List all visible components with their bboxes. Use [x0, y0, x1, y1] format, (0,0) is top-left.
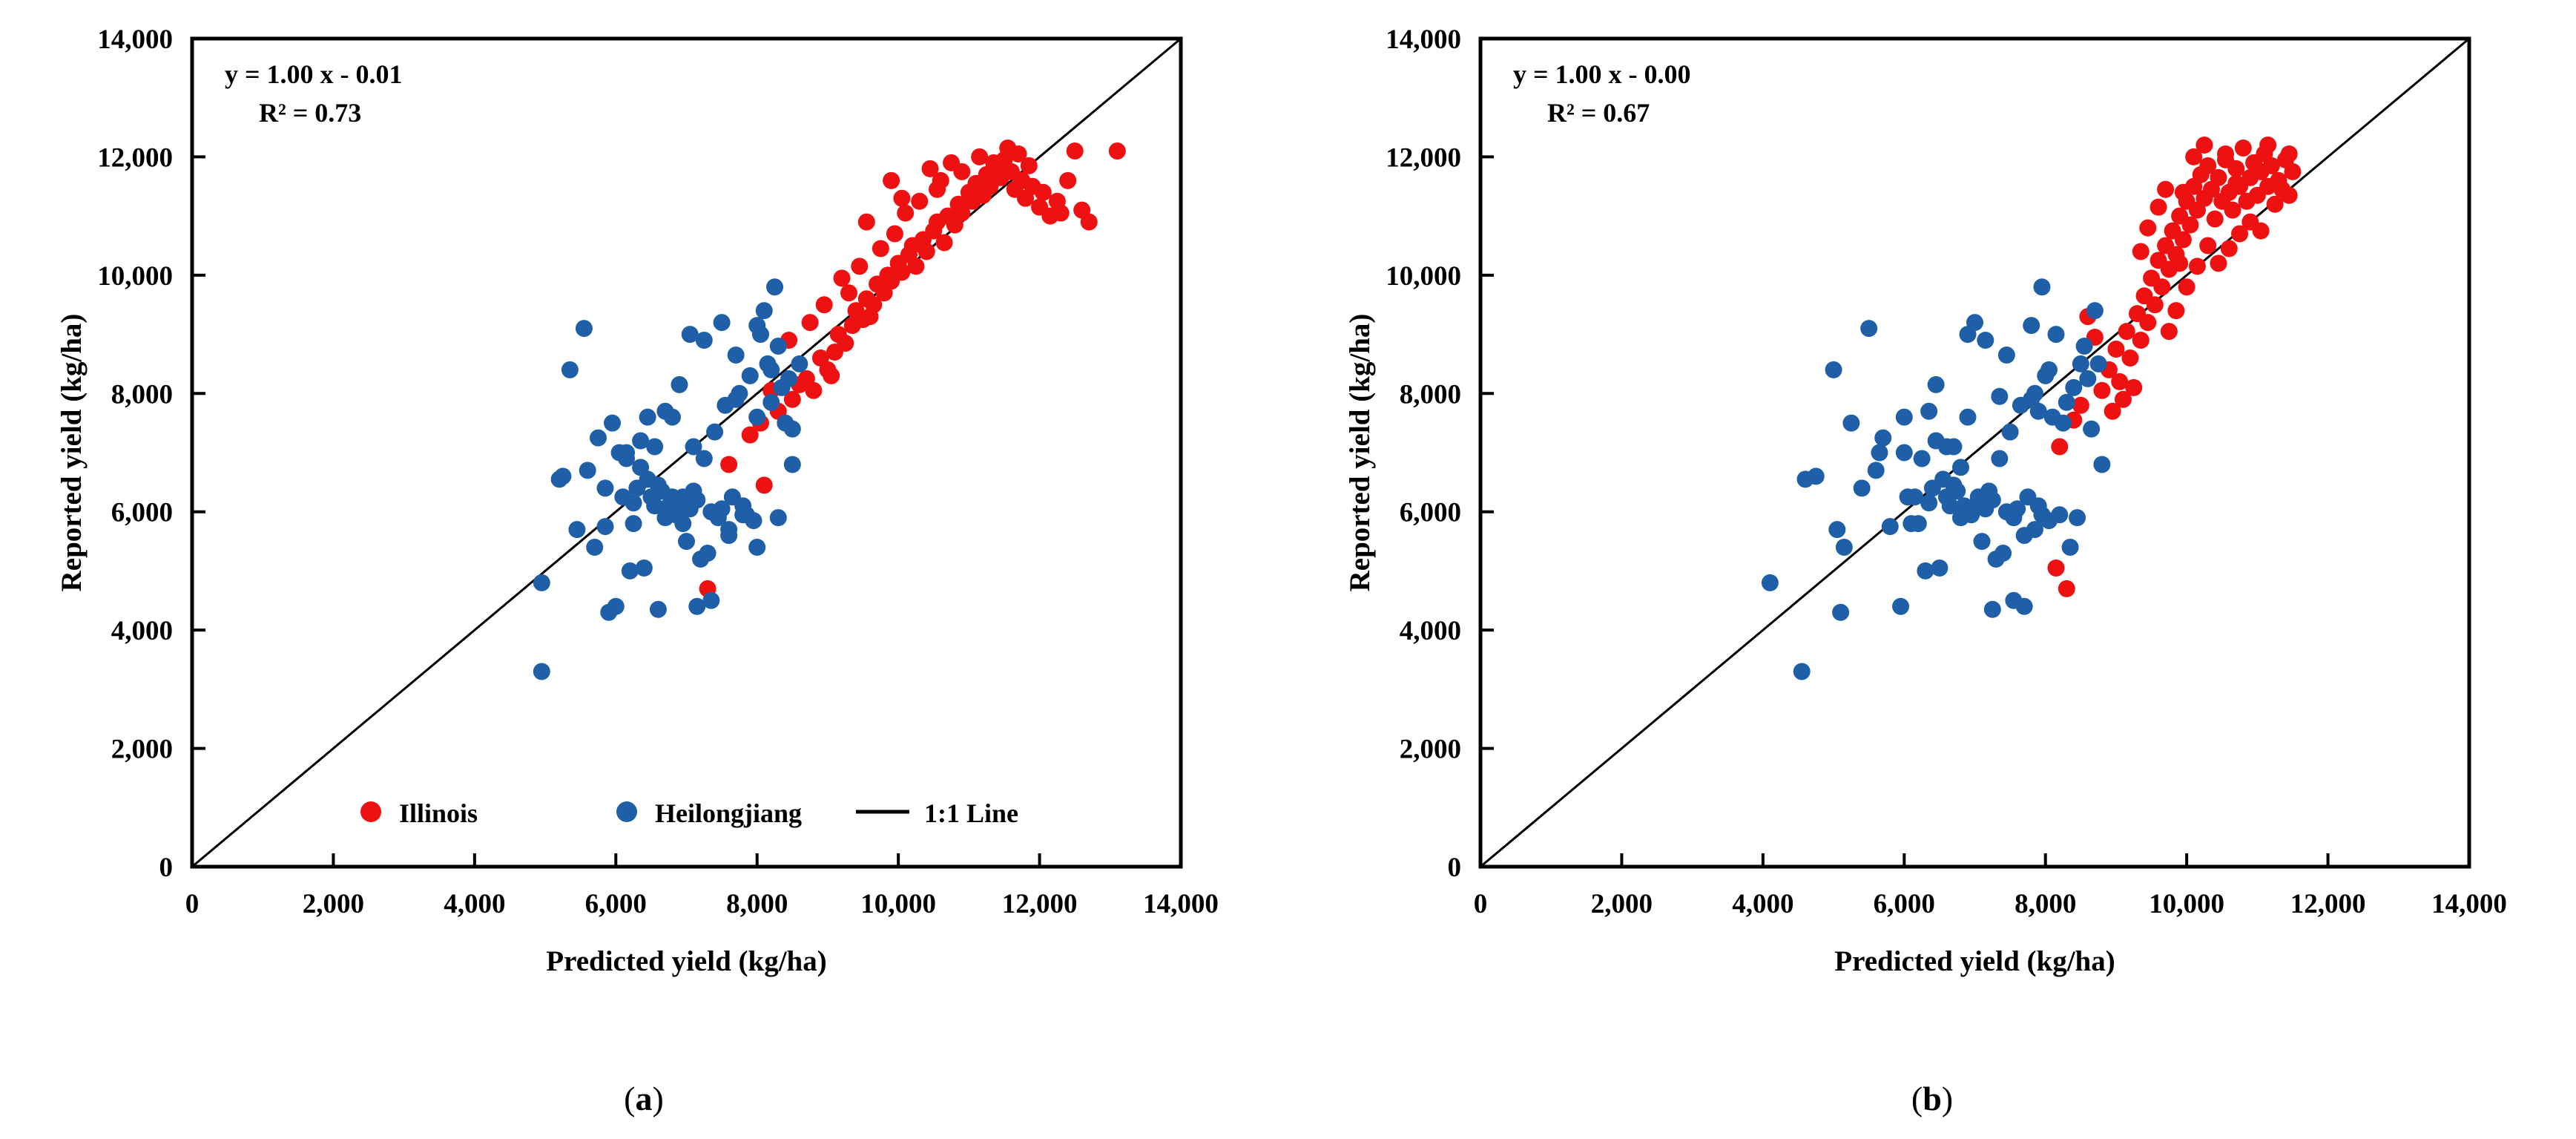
data-point — [2090, 355, 2107, 372]
data-point — [646, 439, 663, 456]
data-point — [2072, 355, 2089, 372]
data-point — [632, 459, 649, 476]
data-point — [618, 444, 635, 462]
data-point — [650, 601, 667, 618]
data-point — [2132, 332, 2150, 349]
data-point — [2139, 220, 2156, 237]
x-tick-label: 0 — [185, 889, 200, 919]
data-point — [1931, 559, 1948, 577]
data-point — [702, 592, 719, 609]
data-point — [2002, 424, 2019, 441]
caption-paren-close: ) — [653, 1080, 664, 1117]
y-axis-title: Reported yield (kg/ha) — [56, 314, 88, 592]
x-tick-label: 8,000 — [726, 889, 788, 919]
data-point — [2189, 257, 2206, 275]
x-tick-label: 14,000 — [2431, 889, 2507, 919]
data-point — [802, 314, 819, 331]
data-point — [2210, 255, 2227, 272]
data-point — [918, 243, 935, 260]
data-point — [1874, 430, 1891, 447]
caption-paren-open: ( — [624, 1080, 635, 1117]
data-point — [720, 521, 737, 538]
data-point — [833, 269, 850, 286]
data-point — [590, 430, 607, 447]
y-tick-label: 10,000 — [97, 261, 173, 292]
data-point — [2093, 456, 2110, 473]
data-point — [1994, 545, 2012, 562]
data-point — [656, 403, 673, 420]
x-tick-label: 8,000 — [2015, 889, 2076, 919]
data-point — [1836, 539, 1853, 556]
data-point — [2047, 559, 2064, 577]
data-point — [2178, 278, 2195, 295]
data-point — [2086, 302, 2104, 319]
data-point — [911, 193, 928, 210]
data-point — [1860, 320, 1877, 337]
caption-letter: a — [636, 1080, 653, 1117]
data-point — [762, 361, 780, 378]
data-point — [625, 494, 642, 511]
legend-marker-circle — [360, 801, 381, 822]
x-tick-label: 4,000 — [1732, 889, 1793, 919]
data-point — [770, 509, 787, 526]
data-point — [2253, 223, 2270, 240]
y-tick-label: 12,000 — [1386, 142, 1461, 173]
x-tick-label: 2,000 — [1591, 889, 1653, 919]
data-point — [1035, 184, 1052, 201]
data-point — [748, 409, 765, 426]
y-tick-label: 0 — [1448, 853, 1462, 883]
data-point — [1828, 521, 1845, 538]
data-point — [985, 154, 1002, 171]
data-point — [1938, 439, 1955, 456]
regression-equation: y = 1.00 x - 0.01 — [225, 59, 403, 89]
data-point — [1842, 415, 1859, 432]
data-point — [1991, 388, 2008, 405]
y-tick-label: 14,000 — [97, 24, 173, 55]
data-point — [2030, 403, 2047, 420]
data-point — [2167, 302, 2184, 319]
data-point — [784, 421, 801, 438]
x-tick-label: 6,000 — [585, 889, 647, 919]
data-point — [699, 545, 717, 562]
series-heilongjiang — [1762, 278, 2111, 680]
data-point — [742, 427, 759, 444]
data-point — [929, 181, 946, 198]
panel-b-caption: (b) — [1288, 1079, 2576, 1118]
data-point — [2121, 349, 2138, 367]
data-point — [1959, 409, 1976, 426]
data-point — [886, 226, 903, 243]
legend-label: Illinois — [399, 798, 478, 828]
data-point — [766, 278, 783, 295]
x-tick-label: 12,000 — [1002, 889, 1078, 919]
data-point — [586, 539, 603, 556]
y-tick-label: 2,000 — [1400, 735, 1461, 765]
data-point — [2235, 139, 2252, 157]
data-point — [907, 257, 924, 275]
data-point — [2227, 160, 2244, 177]
data-point — [2224, 202, 2241, 219]
data-point — [1059, 172, 1076, 189]
caption-paren-close: ) — [1942, 1080, 1953, 1117]
data-point — [636, 559, 653, 577]
data-point — [748, 317, 765, 334]
x-tick-label: 10,000 — [860, 889, 936, 919]
data-point — [1903, 515, 1920, 532]
data-point — [728, 347, 745, 364]
data-point — [756, 302, 773, 319]
data-point — [2199, 237, 2216, 255]
data-point — [2153, 278, 2170, 295]
data-point — [1906, 488, 1923, 505]
data-point — [2259, 137, 2276, 154]
data-point — [953, 163, 970, 180]
data-point — [671, 376, 688, 393]
data-point — [674, 515, 691, 532]
data-point — [784, 456, 801, 473]
data-point — [1984, 491, 2001, 508]
caption-paren-open: ( — [1911, 1080, 1923, 1117]
x-tick-label: 6,000 — [1874, 889, 1935, 919]
data-point — [2107, 341, 2124, 358]
data-point — [1762, 574, 1779, 591]
data-point — [1966, 314, 1983, 331]
data-point — [1896, 409, 1913, 426]
data-point — [2281, 145, 2298, 163]
data-point — [579, 462, 596, 479]
x-axis-title: Predicted yield (kg/ha) — [546, 945, 826, 977]
data-point — [1984, 601, 2001, 618]
data-point — [2065, 379, 2082, 396]
data-point — [2139, 314, 2156, 331]
data-point — [1854, 479, 1871, 496]
data-point — [2157, 181, 2174, 198]
data-point — [770, 338, 787, 355]
data-point — [1928, 376, 1945, 393]
data-point — [1067, 142, 1084, 160]
data-point — [1832, 604, 1849, 621]
data-point — [639, 409, 656, 426]
data-point — [597, 518, 614, 535]
legend-marker-circle — [616, 801, 637, 822]
data-point — [805, 382, 822, 399]
data-point — [816, 296, 833, 313]
data-point — [851, 257, 868, 275]
legend-entry-heilongjiang: Heilongjiang — [616, 798, 802, 828]
y-tick-label: 14,000 — [1386, 24, 1461, 55]
data-point — [2175, 184, 2192, 201]
data-point — [1896, 444, 1913, 462]
data-point — [2058, 394, 2075, 411]
data-point — [2118, 323, 2135, 340]
data-point — [2217, 145, 2234, 163]
data-point — [2150, 199, 2167, 216]
data-point — [2181, 217, 2198, 234]
data-point — [2207, 211, 2224, 228]
data-point — [756, 476, 773, 493]
y-tick-label: 6,000 — [1400, 498, 1461, 528]
data-point — [1793, 663, 1811, 680]
panel-b: 02,0004,0006,0008,00010,00012,00014,0000… — [1288, 0, 2576, 1139]
data-point — [762, 394, 780, 411]
data-point — [664, 488, 681, 505]
x-tick-label: 4,000 — [444, 889, 505, 919]
data-point — [678, 533, 695, 550]
x-tick-label: 2,000 — [303, 889, 364, 919]
x-tick-label: 0 — [1474, 889, 1488, 919]
r-squared: R² = 0.67 — [1547, 98, 1650, 128]
data-point — [2055, 415, 2072, 432]
data-point — [840, 284, 857, 301]
data-point — [720, 456, 737, 473]
data-point — [604, 415, 621, 432]
data-point — [2227, 175, 2244, 192]
data-point — [1021, 157, 1038, 174]
data-point — [607, 598, 625, 615]
data-point — [2083, 421, 2100, 438]
data-point — [1991, 450, 2008, 467]
data-point — [714, 314, 731, 331]
data-point — [2058, 580, 2075, 597]
data-point — [2175, 232, 2192, 249]
data-point — [1914, 450, 1931, 467]
data-point — [1868, 462, 1885, 479]
y-tick-label: 4,000 — [111, 616, 173, 646]
data-point — [936, 234, 953, 252]
y-tick-label: 8,000 — [111, 379, 173, 410]
data-point — [862, 308, 879, 325]
data-point — [897, 205, 914, 222]
data-point — [2033, 278, 2050, 295]
data-point — [706, 424, 723, 441]
legend-label: 1:1 Line — [924, 798, 1018, 828]
data-point — [2076, 338, 2093, 355]
panel-a: 02,0004,0006,0008,00010,00012,00014,0000… — [0, 0, 1288, 1139]
y-tick-label: 6,000 — [111, 498, 173, 528]
data-point — [1053, 205, 1070, 222]
x-tick-label: 10,000 — [2149, 889, 2224, 919]
scatter-plot-b: 02,0004,0006,0008,00010,00012,00014,0000… — [1288, 0, 2576, 1054]
caption-letter: b — [1923, 1080, 1942, 1117]
data-point — [2195, 137, 2213, 154]
one-to-one-line — [1480, 39, 2469, 867]
data-point — [597, 479, 614, 496]
data-point — [688, 491, 705, 508]
legend-entry-illinois: Illinois — [360, 798, 478, 828]
data-point — [2062, 539, 2079, 556]
y-tick-label: 2,000 — [111, 735, 173, 765]
data-point — [1920, 403, 1937, 420]
data-point — [1109, 142, 1126, 160]
regression-equation: y = 1.00 x - 0.00 — [1513, 59, 1691, 89]
data-point — [2171, 255, 2188, 272]
data-point — [2051, 506, 2068, 523]
data-point — [858, 214, 875, 231]
data-point — [731, 385, 748, 402]
data-point — [2051, 439, 2068, 456]
data-point — [2079, 370, 2096, 387]
data-point — [2284, 163, 2301, 180]
data-point — [533, 663, 550, 680]
y-tick-label: 4,000 — [1400, 616, 1461, 646]
data-point — [682, 326, 699, 343]
data-point — [748, 539, 765, 556]
data-point — [622, 562, 639, 580]
data-point — [2132, 243, 2150, 260]
data-point — [2104, 403, 2121, 420]
x-axis-title: Predicted yield (kg/ha) — [1834, 945, 2115, 977]
data-point — [1081, 214, 1098, 231]
x-tick-label: 14,000 — [1143, 889, 1219, 919]
y-tick-label: 12,000 — [97, 142, 173, 173]
data-point — [1882, 518, 1899, 535]
legend-label: Heilongjiang — [655, 798, 802, 828]
data-point — [2093, 382, 2110, 399]
data-point — [533, 574, 550, 591]
data-point — [1974, 533, 1991, 550]
data-point — [576, 320, 593, 337]
data-point — [2072, 397, 2089, 414]
data-point — [780, 370, 797, 387]
data-point — [1998, 347, 2015, 364]
data-point — [1977, 332, 1994, 349]
data-point — [2210, 169, 2227, 186]
data-point — [791, 355, 808, 372]
scatter-plot-a: 02,0004,0006,0008,00010,00012,00014,0000… — [0, 0, 1288, 1054]
data-point — [883, 172, 900, 189]
data-point — [812, 349, 829, 367]
data-point — [1892, 598, 1909, 615]
data-point — [2069, 509, 2086, 526]
data-point — [2281, 187, 2298, 204]
y-axis-title: Reported yield (kg/ha) — [1344, 314, 1376, 592]
data-point — [568, 521, 585, 538]
data-point — [1808, 467, 1825, 485]
data-point — [872, 240, 889, 257]
data-point — [2221, 240, 2238, 257]
data-point — [2023, 317, 2040, 334]
data-point — [2267, 196, 2284, 213]
data-point — [2040, 361, 2058, 378]
data-point — [1825, 361, 1842, 378]
data-point — [1871, 444, 1888, 462]
r-squared: R² = 0.73 — [259, 98, 361, 128]
data-point — [2047, 326, 2064, 343]
data-point — [2026, 385, 2043, 402]
legend-entry-1-1-line: 1:1 Line — [856, 798, 1018, 828]
data-point — [2161, 323, 2178, 340]
data-point — [1917, 562, 1934, 580]
data-point — [561, 361, 579, 378]
y-tick-label: 8,000 — [1400, 379, 1461, 410]
data-point — [625, 515, 642, 532]
data-point — [742, 367, 759, 384]
data-point — [2005, 592, 2022, 609]
data-point — [893, 190, 910, 207]
data-point — [685, 439, 702, 456]
data-point — [1952, 459, 1969, 476]
panel-a-caption: (a) — [0, 1079, 1288, 1118]
data-point — [1949, 482, 1966, 499]
data-point — [823, 367, 840, 384]
y-tick-label: 10,000 — [1386, 261, 1461, 292]
y-tick-label: 0 — [159, 853, 174, 883]
data-point — [734, 506, 751, 523]
data-point — [554, 467, 571, 485]
data-point — [837, 335, 854, 352]
data-point — [2147, 296, 2164, 313]
data-point — [2026, 521, 2043, 538]
figure-container: 02,0004,0006,0008,00010,00012,00014,0000… — [0, 0, 2576, 1139]
x-tick-label: 12,000 — [2290, 889, 2366, 919]
